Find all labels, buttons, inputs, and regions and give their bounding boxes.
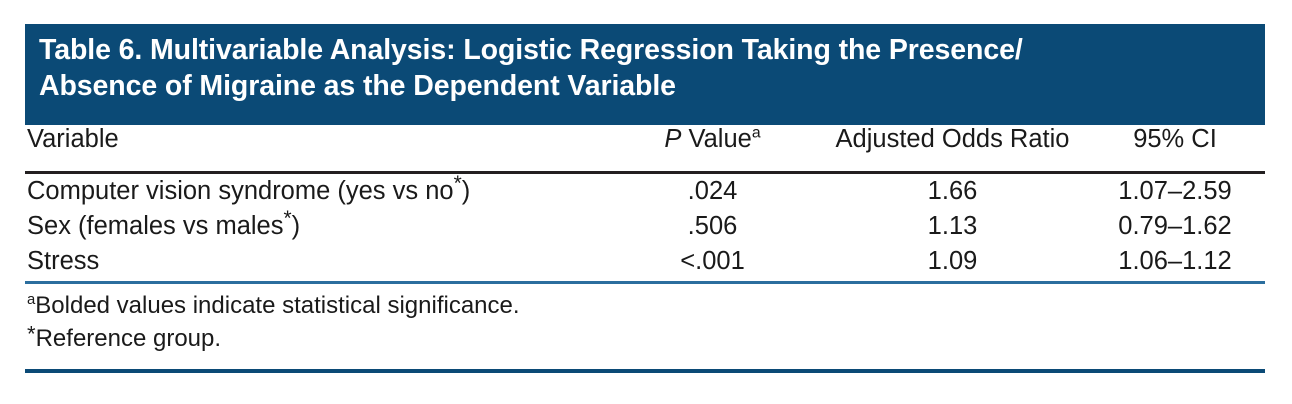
table-head: Variable P Valuea Adjusted Odds Ratio 95… xyxy=(25,125,1265,173)
column-header-95-ci: 95% CI xyxy=(1085,125,1265,173)
cell-95-ci: 1.07–2.59 xyxy=(1085,173,1265,210)
footnote-a-text: Bolded values indicate statistical signi… xyxy=(35,292,519,319)
table-figure: Table 6. Multivariable Analysis: Logisti… xyxy=(25,24,1265,373)
cell-adjusted-odds-ratio: 1.13 xyxy=(820,209,1085,244)
table-row: Sex (females vs males*) .506 1.13 0.79–1… xyxy=(25,209,1265,244)
table-title-line-2: Absence of Migraine as the Dependent Var… xyxy=(39,70,676,102)
variable-label-text: Computer vision syndrome (yes vs no xyxy=(27,177,454,205)
p-value-label-text: Value xyxy=(681,125,751,153)
bottom-rule xyxy=(25,369,1265,373)
table-title-bar: Table 6. Multivariable Analysis: Logisti… xyxy=(25,24,1265,125)
table-title-line-1: Table 6. Multivariable Analysis: Logisti… xyxy=(39,34,1023,66)
cell-p-value: .024 xyxy=(605,173,820,210)
table-row: Stress <.001 1.09 1.06–1.12 xyxy=(25,244,1265,283)
table-row: Computer vision syndrome (yes vs no*) .0… xyxy=(25,173,1265,210)
cell-adjusted-odds-ratio: 1.09 xyxy=(820,244,1085,283)
reference-star-icon: * xyxy=(454,172,462,195)
table-footnotes: aBolded values indicate statistical sign… xyxy=(25,284,1265,355)
column-header-p-value: P Valuea xyxy=(605,125,820,173)
reference-star-icon: * xyxy=(284,207,292,230)
cell-variable: Stress xyxy=(25,244,605,283)
results-table: Variable P Valuea Adjusted Odds Ratio 95… xyxy=(25,125,1265,284)
variable-label-text: Stress xyxy=(27,247,99,275)
footnote-star: *Reference group. xyxy=(25,323,1265,356)
footnote-a: aBolded values indicate statistical sign… xyxy=(25,290,1265,323)
cell-p-value: <.001 xyxy=(605,244,820,283)
p-value-italic-p: P xyxy=(664,125,681,153)
variable-label-text: Sex (females vs males xyxy=(27,212,284,240)
variable-label-tail: ) xyxy=(462,177,471,205)
cell-variable: Computer vision syndrome (yes vs no*) xyxy=(25,173,605,210)
table-body: Computer vision syndrome (yes vs no*) .0… xyxy=(25,173,1265,283)
footnote-marker-star: * xyxy=(27,321,36,346)
column-header-adjusted-odds-ratio: Adjusted Odds Ratio xyxy=(820,125,1085,173)
cell-adjusted-odds-ratio: 1.66 xyxy=(820,173,1085,210)
table-title: Table 6. Multivariable Analysis: Logisti… xyxy=(39,32,1251,105)
variable-label-tail: ) xyxy=(292,212,301,240)
cell-p-value: .506 xyxy=(605,209,820,244)
footnote-star-text: Reference group. xyxy=(36,325,221,352)
table-header-row: Variable P Valuea Adjusted Odds Ratio 95… xyxy=(25,125,1265,173)
cell-95-ci: 1.06–1.12 xyxy=(1085,244,1265,283)
cell-variable: Sex (females vs males*) xyxy=(25,209,605,244)
cell-95-ci: 0.79–1.62 xyxy=(1085,209,1265,244)
column-header-variable: Variable xyxy=(25,125,605,173)
p-value-footnote-marker: a xyxy=(752,125,761,142)
